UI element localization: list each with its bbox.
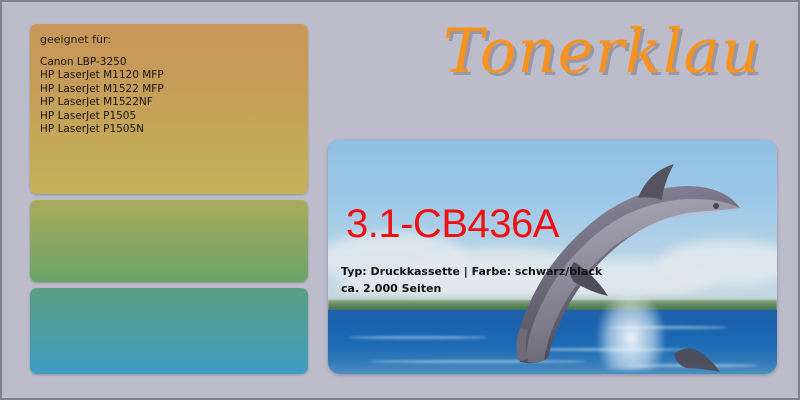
dolphin-photo	[328, 140, 777, 374]
list-item: Canon LBP-3250	[40, 56, 340, 69]
product-spec-line-1: Typ: Druckkassette | Farbe: schwarz/blac…	[341, 263, 602, 280]
brand-title: Tonerklau	[422, 20, 782, 84]
list-item: HP LaserJet M1522 MFP	[40, 83, 340, 96]
dolphin-icon	[424, 142, 754, 374]
decorative-panel-green	[30, 200, 308, 282]
compatibility-heading: geeignet für:	[40, 32, 340, 47]
compatible-printer-list: Canon LBP-3250 HP LaserJet M1120 MFP HP …	[40, 56, 340, 136]
list-item: HP LaserJet M1120 MFP	[40, 69, 340, 82]
compatibility-panel: geeignet für: Canon LBP-3250 HP LaserJet…	[30, 24, 308, 194]
list-item: HP LaserJet P1505	[40, 110, 340, 123]
product-spec-line-2: ca. 2.000 Seiten	[341, 280, 602, 297]
toner-product-banner: geeignet für: Canon LBP-3250 HP LaserJet…	[0, 0, 800, 400]
product-code: 3.1-CB436A	[346, 204, 559, 244]
product-specs: Typ: Druckkassette | Farbe: schwarz/blac…	[341, 263, 602, 297]
decorative-panel-blue	[30, 288, 308, 374]
list-item: HP LaserJet M1522NF	[40, 96, 340, 109]
compatibility-content: geeignet für: Canon LBP-3250 HP LaserJet…	[40, 32, 340, 136]
water-splash	[596, 290, 666, 370]
list-item: HP LaserJet P1505N	[40, 123, 340, 136]
